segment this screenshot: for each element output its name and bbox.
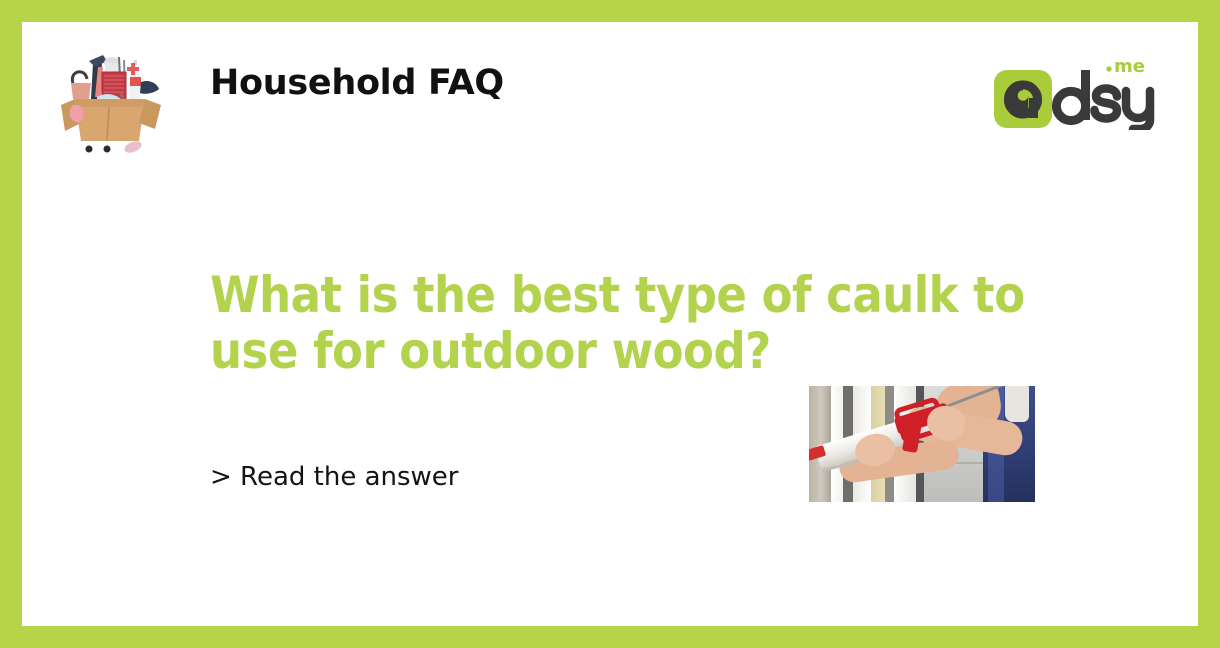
svg-text:me: me [1114, 56, 1145, 77]
card-inner: Household FAQ [22, 22, 1198, 626]
header: Household FAQ [22, 22, 1198, 162]
headline: What is the best type of caulk to use fo… [210, 267, 1090, 379]
faq-promo-card: Household FAQ [0, 0, 1220, 648]
caulking-window-photo [809, 386, 1035, 502]
photo-scene [809, 386, 1035, 502]
read-answer-link[interactable]: > Read the answer [210, 462, 459, 492]
adsy-logo[interactable]: me [993, 48, 1169, 130]
page-title: Household FAQ [210, 63, 504, 103]
household-box-icon [45, 27, 175, 157]
worker-shirt [1005, 386, 1029, 422]
